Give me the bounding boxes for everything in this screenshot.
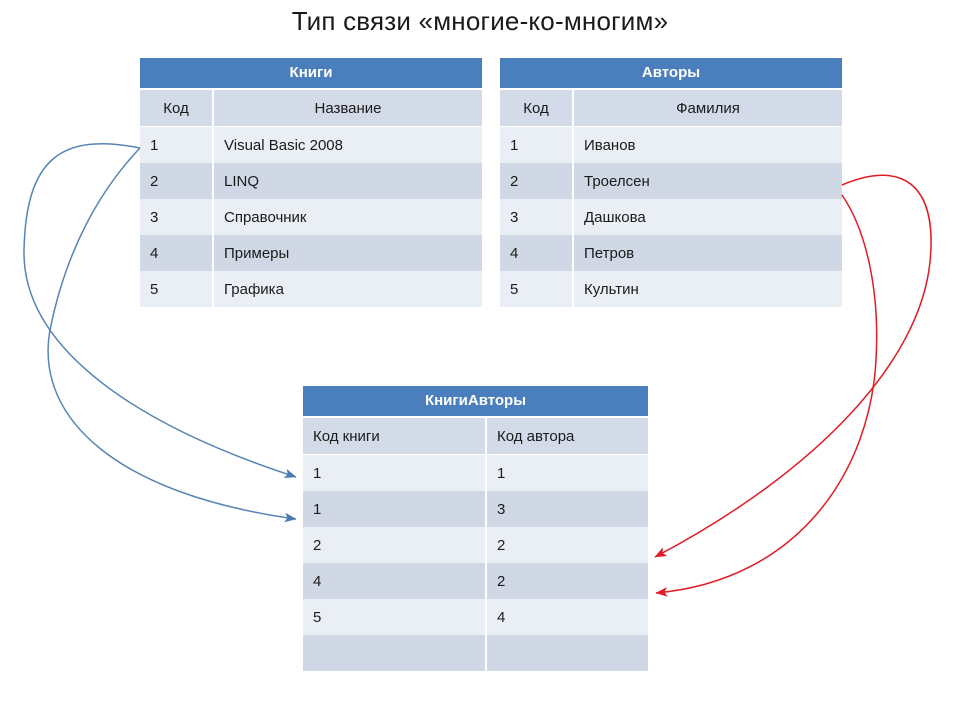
cell-code: 1 xyxy=(140,127,213,164)
cell-code: 2 xyxy=(140,163,213,199)
cell-code: 4 xyxy=(140,235,213,271)
table-row: 4 Примеры xyxy=(140,235,482,271)
cell-name: Справочник xyxy=(213,199,482,235)
table-books-col-code: Код xyxy=(140,90,213,127)
cell-surname: Культин xyxy=(573,271,842,307)
table-booksauthors-grid: Код книги Код автора 1 1 1 3 2 2 4 2 5 4 xyxy=(303,418,648,671)
cell-book-code: 1 xyxy=(303,491,486,527)
cell-name: Графика xyxy=(213,271,482,307)
cell-name: LINQ xyxy=(213,163,482,199)
table-authors-title: Авторы xyxy=(500,58,842,90)
table-booksauthors-title: КнигиАвторы xyxy=(303,386,648,418)
cell-author-code xyxy=(486,635,648,671)
table-books-title: Книги xyxy=(140,58,482,90)
cell-book-code xyxy=(303,635,486,671)
cell-book-code: 1 xyxy=(303,455,486,492)
table-row: 5 Графика xyxy=(140,271,482,307)
cell-name: Примеры xyxy=(213,235,482,271)
cell-code: 2 xyxy=(500,163,573,199)
table-row: 5 4 xyxy=(303,599,648,635)
table-books-grid: Код Название 1 Visual Basic 2008 2 LINQ … xyxy=(140,90,482,307)
cell-surname: Петров xyxy=(573,235,842,271)
table-books-header-row: Код Название xyxy=(140,90,482,127)
table-row: 4 Петров xyxy=(500,235,842,271)
cell-book-code: 5 xyxy=(303,599,486,635)
table-booksauthors: КнигиАвторы Код книги Код автора 1 1 1 3… xyxy=(303,386,648,671)
cell-code: 5 xyxy=(140,271,213,307)
cell-name: Visual Basic 2008 xyxy=(213,127,482,164)
table-row: 2 2 xyxy=(303,527,648,563)
cell-surname: Троелсен xyxy=(573,163,842,199)
cell-author-code: 4 xyxy=(486,599,648,635)
cell-surname: Иванов xyxy=(573,127,842,164)
cell-code: 4 xyxy=(500,235,573,271)
table-books: Книги Код Название 1 Visual Basic 2008 2… xyxy=(140,58,482,307)
cell-book-code: 2 xyxy=(303,527,486,563)
table-row: 1 Иванов xyxy=(500,127,842,164)
table-authors-col-surname: Фамилия xyxy=(573,90,842,127)
table-row: 2 Троелсен xyxy=(500,163,842,199)
table-booksauthors-col-bookcode: Код книги xyxy=(303,418,486,455)
table-authors-grid: Код Фамилия 1 Иванов 2 Троелсен 3 Дашков… xyxy=(500,90,842,307)
cell-author-code: 1 xyxy=(486,455,648,492)
cell-code: 1 xyxy=(500,127,573,164)
table-row: 5 Культин xyxy=(500,271,842,307)
table-authors-col-code: Код xyxy=(500,90,573,127)
table-row: 3 Справочник xyxy=(140,199,482,235)
cell-book-code: 4 xyxy=(303,563,486,599)
cell-author-code: 2 xyxy=(486,563,648,599)
table-row-empty xyxy=(303,635,648,671)
table-booksauthors-col-authorcode: Код автора xyxy=(486,418,648,455)
table-authors-header-row: Код Фамилия xyxy=(500,90,842,127)
cell-author-code: 2 xyxy=(486,527,648,563)
cell-code: 3 xyxy=(500,199,573,235)
cell-code: 3 xyxy=(140,199,213,235)
cell-surname: Дашкова xyxy=(573,199,842,235)
cell-author-code: 3 xyxy=(486,491,648,527)
table-row: 1 3 xyxy=(303,491,648,527)
table-row: 3 Дашкова xyxy=(500,199,842,235)
table-authors: Авторы Код Фамилия 1 Иванов 2 Троелсен 3… xyxy=(500,58,842,307)
cell-code: 5 xyxy=(500,271,573,307)
table-booksauthors-header-row: Код книги Код автора xyxy=(303,418,648,455)
table-books-col-name: Название xyxy=(213,90,482,127)
table-row: 2 LINQ xyxy=(140,163,482,199)
table-row: 1 1 xyxy=(303,455,648,492)
diagram-canvas: Тип связи «многие-ко-многим» Книги Код Н… xyxy=(0,0,960,720)
table-row: 1 Visual Basic 2008 xyxy=(140,127,482,164)
table-row: 4 2 xyxy=(303,563,648,599)
page-title: Тип связи «многие-ко-многим» xyxy=(0,6,960,37)
